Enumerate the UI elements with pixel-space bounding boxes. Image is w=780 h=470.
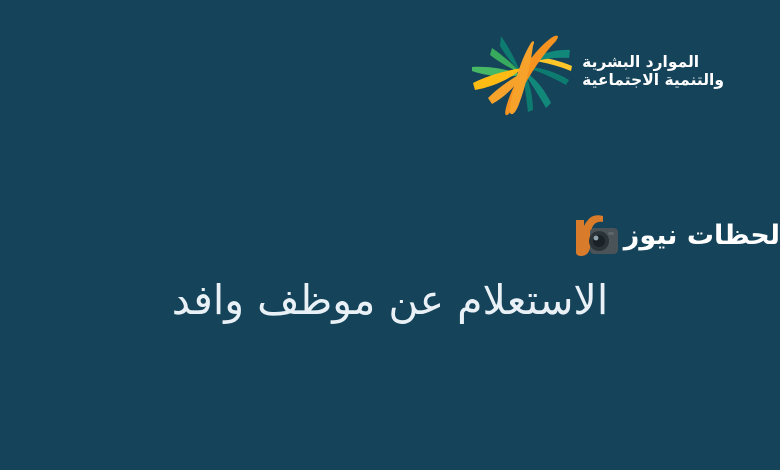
camera-icon: [570, 210, 622, 262]
ministry-palm-starburst-logo-icon: [470, 28, 574, 116]
site-brand: لحظات نيوز: [570, 210, 780, 262]
ministry-name-line-1: الموارد البشرية: [582, 53, 699, 71]
ministry-wordmark: الموارد البشرية والتنمية الاجتماعية: [582, 53, 724, 92]
site-brand-name: لحظات نيوز: [624, 222, 780, 251]
ministry-name-line-2: والتنمية الاجتماعية: [582, 71, 724, 89]
ministry-logo-lockup: الموارد البشرية والتنمية الاجتماعية: [470, 28, 724, 116]
page-canvas: الموارد البشرية والتنمية الاجتماعية لحظا…: [0, 0, 780, 470]
page-headline: الاستعلام عن موظف وافد: [60, 278, 720, 324]
